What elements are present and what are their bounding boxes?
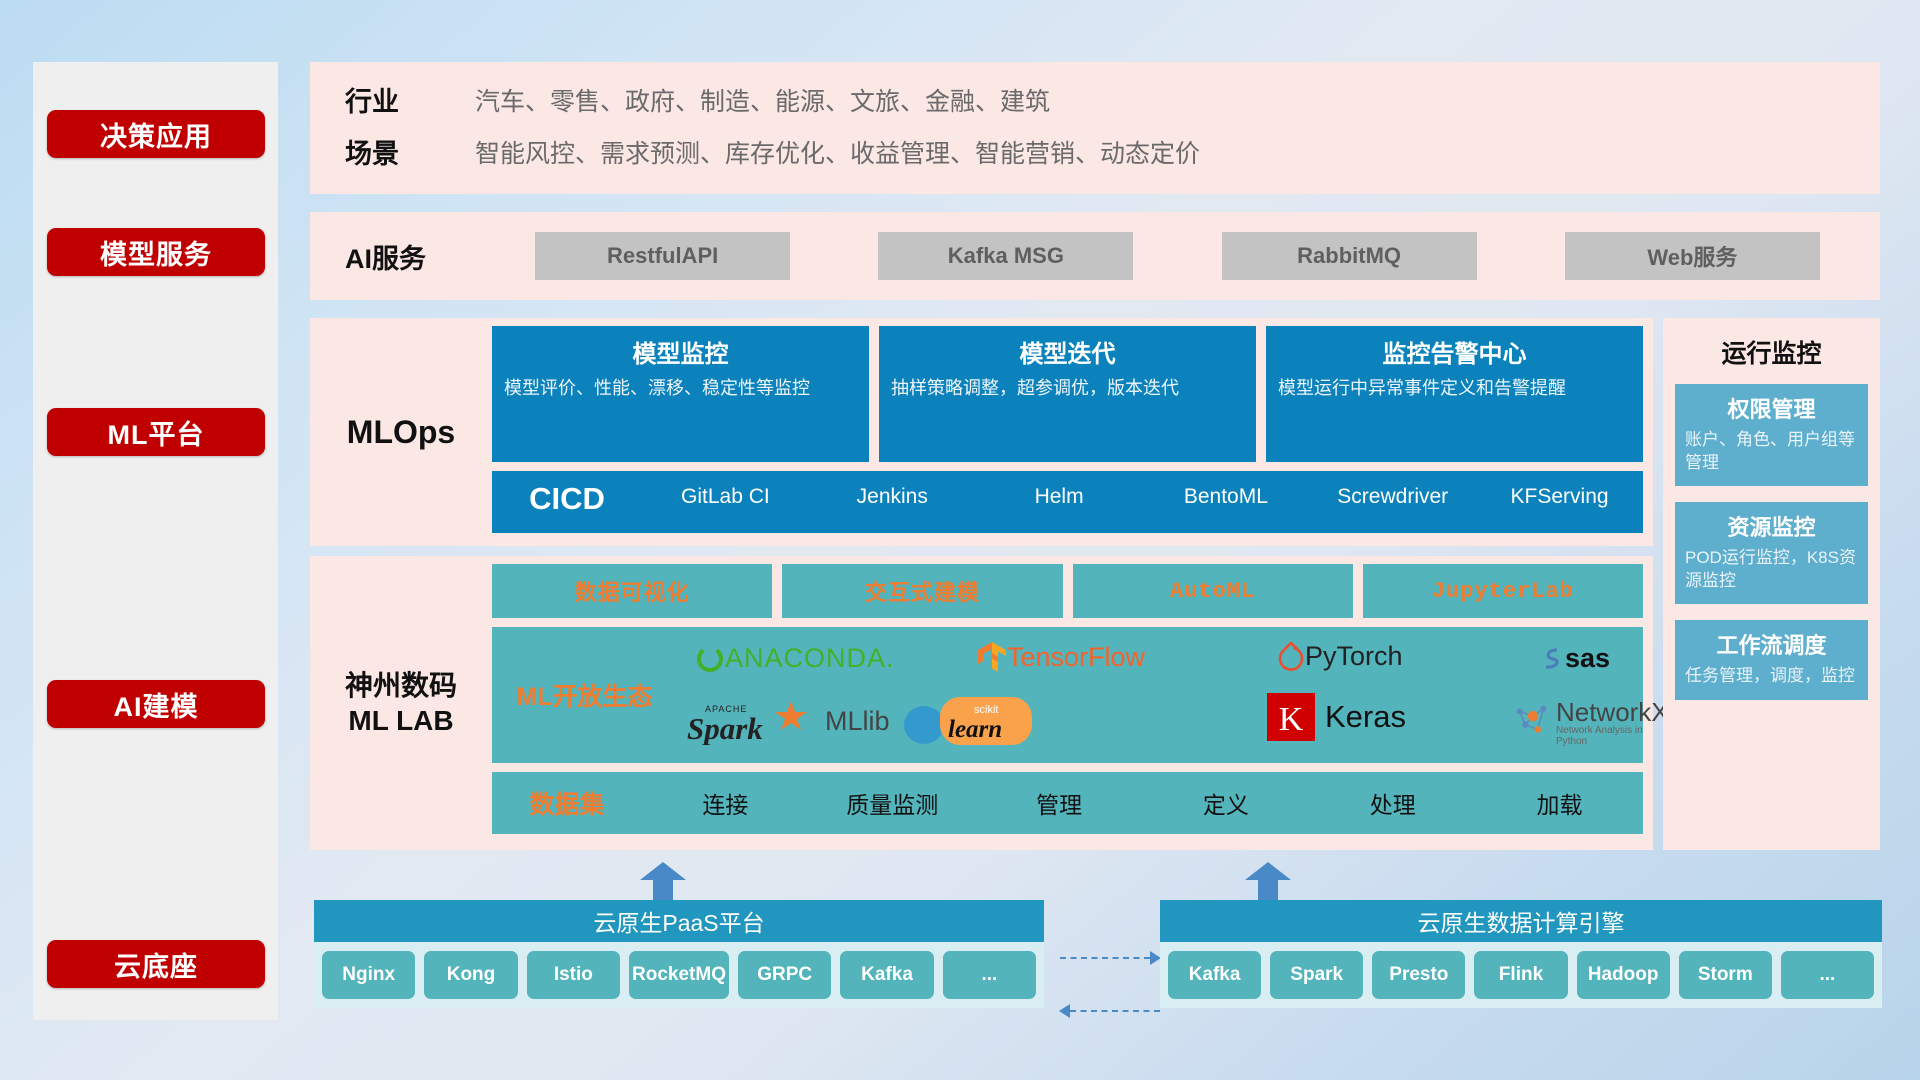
left-rail: 决策应用 模型服务 ML平台 AI建模 云底座 [33, 62, 278, 1020]
svg-text:K: K [1279, 701, 1304, 738]
ai-service-chip-restfulapi[interactable]: RestfulAPI [535, 232, 790, 280]
engine-chip-storm[interactable]: Storm [1679, 951, 1772, 999]
scikit-learn-logo: scikit learn [902, 695, 1052, 747]
ml-ecosystem-band: ML开放生态 ANACONDA. [492, 627, 1643, 763]
pytorch-logo: PyTorch [1277, 640, 1403, 672]
ml-lab-label-line1: 神州数码 [345, 668, 457, 703]
data-engine-group: 云原生数据计算引擎 Kafka Spark Presto Flink Hadoo… [1160, 900, 1882, 1008]
rail-chip-cloud-base[interactable]: 云底座 [47, 940, 265, 988]
card-desc: 任务管理，调度，监控 [1685, 665, 1858, 688]
card-title: 工作流调度 [1685, 628, 1858, 660]
scenario-list: 智能风控、需求预测、库存优化、收益管理、智能营销、动态定价 [475, 128, 1200, 180]
data-engine-title: 云原生数据计算引擎 [1160, 900, 1882, 942]
monitor-card-workflow[interactable]: 工作流调度 任务管理，调度，监控 [1675, 620, 1868, 700]
spark-mllib-logo: APACHE Spark MLlib [687, 697, 890, 745]
svg-text:Spark: Spark [687, 711, 763, 745]
paas-chip-kafka[interactable]: Kafka [840, 951, 933, 999]
networkx-icon [1512, 699, 1552, 739]
cicd-item-bentoml[interactable]: BentoML [1142, 479, 1309, 510]
ai-service-items: RestfulAPI Kafka MSG RabbitMQ Web服务 [475, 232, 1880, 280]
tensorflow-icon [977, 641, 1007, 674]
ai-service-section: AI服务 RestfulAPI Kafka MSG RabbitMQ Web服务 [310, 212, 1880, 300]
ml-lab-label: 神州数码 ML LAB [310, 556, 492, 850]
applications-section: 行业 场景 汽车、零售、政府、制造、能源、文旅、金融、建筑 智能风控、需求预测、… [310, 62, 1880, 194]
ml-lab-tabs: 数据可视化 交互式建模 AutoML JupyterLab [492, 564, 1643, 618]
paas-chip-kong[interactable]: Kong [424, 951, 517, 999]
applications-values: 汽车、零售、政府、制造、能源、文旅、金融、建筑 智能风控、需求预测、库存优化、收… [475, 76, 1200, 180]
sas-icon [1537, 645, 1565, 673]
arrow-up-paas [640, 862, 686, 904]
engine-chip-flink[interactable]: Flink [1474, 951, 1567, 999]
cicd-item-jenkins[interactable]: Jenkins [809, 479, 976, 510]
anaconda-logo: ANACONDA. [695, 643, 895, 674]
tensorflow-wordmark: TensorFlow [1007, 642, 1145, 673]
anaconda-icon [695, 644, 725, 674]
pytorch-wordmark: PyTorch [1305, 641, 1403, 672]
ai-service-label: AI服务 [310, 237, 475, 276]
dataset-item-process[interactable]: 处理 [1309, 786, 1476, 820]
mlops-content: 模型监控 模型评价、性能、漂移、稳定性等监控 模型迭代 抽样策略调整，超参调优，… [492, 318, 1653, 546]
runtime-monitor-section: 运行监控 权限管理 账户、角色、用户组等管理 资源监控 POD运行监控，K8S资… [1663, 318, 1880, 850]
spark-icon: APACHE Spark [687, 697, 825, 745]
scikit-learn-icon: scikit learn [902, 695, 1052, 747]
mlops-section: MLOps 模型监控 模型评价、性能、漂移、稳定性等监控 模型迭代 抽样策略调整… [310, 318, 1653, 546]
engine-chip-presto[interactable]: Presto [1372, 951, 1465, 999]
dashed-arrow-left-icon [1059, 1004, 1070, 1018]
engine-chip-kafka[interactable]: Kafka [1168, 951, 1261, 999]
ai-service-chip-kafka-msg[interactable]: Kafka MSG [878, 232, 1133, 280]
card-desc: 抽样策略调整，超参调优，版本迭代 [891, 377, 1244, 401]
pytorch-icon [1277, 640, 1305, 672]
mlops-card-model-iteration[interactable]: 模型迭代 抽样策略调整，超参调优，版本迭代 [879, 326, 1256, 462]
rail-chip-ml-platform[interactable]: ML平台 [47, 408, 265, 456]
label-industry: 行业 [345, 76, 475, 128]
label-scenario: 场景 [345, 128, 475, 180]
keras-wordmark: Keras [1325, 699, 1406, 735]
sas-wordmark: sas [1565, 643, 1610, 674]
dashed-connector-bottom [1070, 1010, 1160, 1012]
dataset-item-load[interactable]: 加载 [1476, 786, 1643, 820]
card-desc: 模型运行中异常事件定义和告警提醒 [1278, 377, 1631, 401]
mlops-cards: 模型监控 模型评价、性能、漂移、稳定性等监控 模型迭代 抽样策略调整，超参调优，… [492, 326, 1643, 462]
paas-chip-rocketmq[interactable]: RocketMQ [629, 951, 729, 999]
cicd-item-screwdriver[interactable]: Screwdriver [1309, 479, 1476, 510]
engine-chip-hadoop[interactable]: Hadoop [1577, 951, 1670, 999]
ml-ecosystem-title: ML开放生态 [492, 677, 677, 713]
industry-list: 汽车、零售、政府、制造、能源、文旅、金融、建筑 [475, 76, 1200, 128]
svg-text:learn: learn [948, 716, 1002, 743]
card-title: 监控告警中心 [1278, 334, 1631, 369]
mlops-card-model-monitoring[interactable]: 模型监控 模型评价、性能、漂移、稳定性等监控 [492, 326, 869, 462]
keras-icon: K [1267, 693, 1315, 741]
engine-chip-spark[interactable]: Spark [1270, 951, 1363, 999]
keras-logo: K Keras [1267, 693, 1406, 741]
data-engine-chip-row: Kafka Spark Presto Flink Hadoop Storm ..… [1160, 942, 1882, 1008]
networkx-logo: NetworkX Network Analysis in Python [1512, 699, 1671, 747]
cicd-item-helm[interactable]: Helm [976, 479, 1143, 510]
rail-chip-model-service[interactable]: 模型服务 [47, 228, 265, 276]
card-title: 资源监控 [1685, 510, 1858, 542]
card-desc: 模型评价、性能、漂移、稳定性等监控 [504, 377, 857, 401]
paas-chip-nginx[interactable]: Nginx [322, 951, 415, 999]
paas-chip-istio[interactable]: Istio [527, 951, 620, 999]
tab-automl[interactable]: AutoML [1073, 564, 1353, 618]
mllib-wordmark: MLlib [825, 706, 890, 737]
card-desc: POD运行监控，K8S资源监控 [1685, 547, 1858, 592]
dataset-title: 数据集 [492, 785, 642, 821]
mlops-card-alert-center[interactable]: 监控告警中心 模型运行中异常事件定义和告警提醒 [1266, 326, 1643, 462]
cicd-title: CICD [492, 479, 642, 519]
cicd-item-kfserving[interactable]: KFServing [1476, 479, 1643, 510]
paas-platform-group: 云原生PaaS平台 Nginx Kong Istio RocketMQ GRPC… [314, 900, 1044, 1008]
dataset-item-define[interactable]: 定义 [1142, 786, 1309, 820]
tab-jupyterlab[interactable]: JupyterLab [1363, 564, 1643, 618]
mlops-label: MLOps [310, 318, 492, 546]
dataset-bar: 数据集 连接 质量监测 管理 定义 处理 加载 [492, 772, 1643, 834]
paas-chip-row: Nginx Kong Istio RocketMQ GRPC Kafka ... [314, 942, 1044, 1008]
anaconda-wordmark: ANACONDA. [725, 643, 895, 674]
runtime-monitor-title: 运行监控 [1675, 334, 1868, 370]
ml-ecosystem-logos: ANACONDA. TensorFlow [677, 627, 1643, 763]
card-title: 权限管理 [1685, 392, 1858, 424]
card-title: 模型监控 [504, 334, 857, 369]
engine-chip-more[interactable]: ... [1781, 951, 1874, 999]
paas-chip-grpc[interactable]: GRPC [738, 951, 831, 999]
dashed-connector-top [1060, 957, 1150, 959]
tab-interactive-modeling[interactable]: 交互式建模 [782, 564, 1062, 618]
networkx-wordmark: NetworkX [1556, 699, 1671, 725]
networkx-tagline: Network Analysis in Python [1556, 725, 1671, 747]
card-desc: 账户、角色、用户组等管理 [1685, 429, 1858, 474]
dataset-item-manage[interactable]: 管理 [976, 786, 1143, 820]
monitor-card-resource[interactable]: 资源监控 POD运行监控，K8S资源监控 [1675, 502, 1868, 604]
ai-service-chip-web-service[interactable]: Web服务 [1565, 232, 1820, 280]
ml-lab-label-line2: ML LAB [348, 703, 453, 738]
tab-data-visualization[interactable]: 数据可视化 [492, 564, 772, 618]
dataset-item-connect[interactable]: 连接 [642, 786, 809, 820]
rail-chip-decision-app[interactable]: 决策应用 [47, 110, 265, 158]
ai-service-chip-rabbitmq[interactable]: RabbitMQ [1222, 232, 1477, 280]
paas-platform-title: 云原生PaaS平台 [314, 900, 1044, 942]
svg-text:scikit: scikit [974, 704, 998, 716]
dataset-item-quality[interactable]: 质量监测 [809, 786, 976, 820]
cicd-item-gitlab-ci[interactable]: GitLab CI [642, 479, 809, 510]
sas-logo: sas [1537, 643, 1610, 674]
card-title: 模型迭代 [891, 334, 1244, 369]
applications-labels: 行业 场景 [310, 76, 475, 180]
rail-chip-ai-modeling[interactable]: AI建模 [47, 680, 265, 728]
ml-lab-content: 数据可视化 交互式建模 AutoML JupyterLab ML开放生态 ANA… [492, 556, 1653, 850]
cicd-bar: CICD GitLab CI Jenkins Helm BentoML Scre… [492, 471, 1643, 533]
tensorflow-logo: TensorFlow [977, 641, 1145, 674]
monitor-card-permission[interactable]: 权限管理 账户、角色、用户组等管理 [1675, 384, 1868, 486]
ml-lab-section: 神州数码 ML LAB 数据可视化 交互式建模 AutoML JupyterLa… [310, 556, 1653, 850]
architecture-diagram: 决策应用 模型服务 ML平台 AI建模 云底座 行业 场景 汽车、零售、政府、制… [0, 0, 1920, 1080]
arrow-up-engine [1245, 862, 1291, 904]
paas-chip-more[interactable]: ... [943, 951, 1036, 999]
